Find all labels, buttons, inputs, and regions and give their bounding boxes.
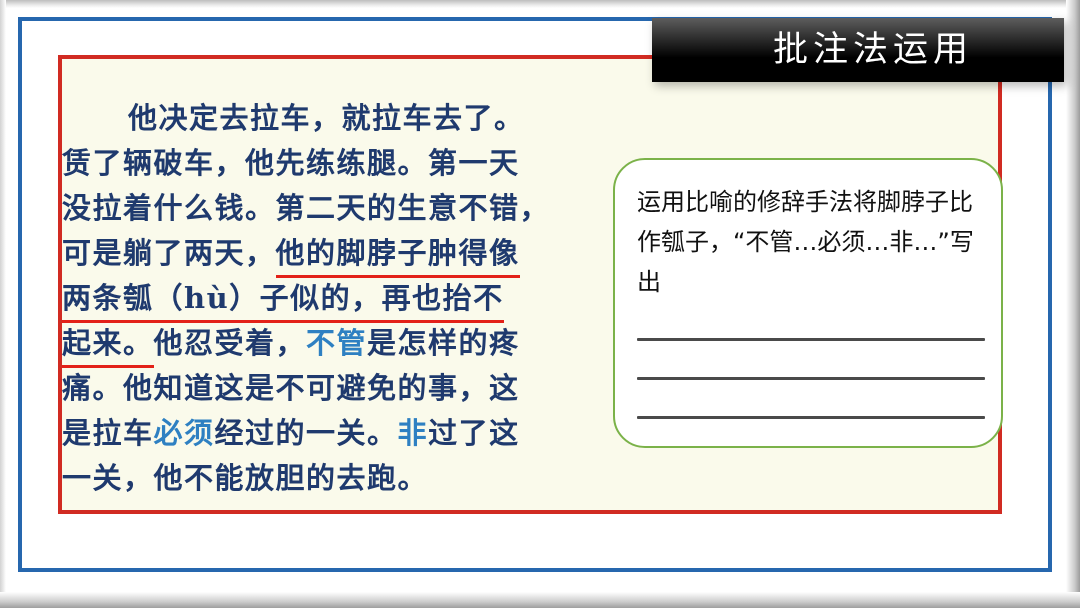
title-banner: 批注法运用 [652, 18, 1064, 82]
passage-segment: 经过的一关。 [215, 416, 398, 450]
passage-text-block: 他决定去拉车，就拉车去了。 赁了辆破车，他先练练腿。第一天 没拉着什么钱。第二天… [62, 96, 584, 501]
red-annotation-underline-segment: 他的脚脖子肿得像 [276, 231, 520, 276]
page-edge-bottom-shadow [0, 592, 1080, 608]
passage-line: 一关，他不能放胆的去跑。 [62, 456, 584, 501]
red-annotation-underline-segment: 两条瓠（hù）子似的，再也抬不 [62, 276, 504, 321]
passage-segment: 过了这 [428, 416, 520, 450]
passage-segment: 赁了辆破车，他先练练腿。第一天 [62, 146, 520, 180]
passage-segment: 是拉车 [62, 416, 154, 450]
passage-segment: 他决定去拉车，就拉车去了。 [128, 101, 525, 135]
page-edge-left-shadow [0, 0, 6, 608]
annotation-note-card: 运用比喻的修辞手法将脚脖子比作瓠子，“不管…必须…非…”写出 [613, 158, 1003, 448]
passage-line: 赁了辆破车，他先练练腿。第一天 [62, 141, 584, 186]
passage-segment: 他忍受着， [154, 326, 307, 360]
passage-line: 是拉车必须经过的一关。非过了这 [62, 411, 584, 456]
blank-write-line[interactable] [637, 377, 985, 380]
passage-line: 两条瓠（hù）子似的，再也抬不 [62, 276, 584, 321]
passage-segment: 痛。他知道这是不可避免的事，这 [62, 371, 520, 405]
keyword-highlight-bixu: 必须 [154, 416, 215, 450]
page-edge-right-shadow [1066, 0, 1080, 608]
keyword-highlight-fei: 非 [398, 416, 429, 450]
passage-line: 可是躺了两天，他的脚脖子肿得像 [62, 231, 584, 276]
passage-segment: 是怎样的疼 [367, 326, 520, 360]
passage-segment: 没拉着什么钱。第二天的生意不错， [62, 191, 550, 225]
slide-canvas: 他决定去拉车，就拉车去了。 赁了辆破车，他先练练腿。第一天 没拉着什么钱。第二天… [0, 0, 1080, 608]
passage-line: 他决定去拉车，就拉车去了。 [62, 96, 584, 141]
blank-write-line[interactable] [637, 338, 985, 341]
keyword-highlight-buguan: 不管 [306, 326, 367, 360]
passage-segment: 可是躺了两天， [62, 236, 276, 270]
passage-line: 起来。他忍受着，不管是怎样的疼 [62, 321, 584, 366]
passage-segment: 一关，他不能放胆的去跑。 [62, 461, 428, 495]
passage-line: 痛。他知道这是不可避免的事，这 [62, 366, 584, 411]
blank-write-line[interactable] [637, 416, 985, 419]
page-edge-top-shadow [0, 0, 1080, 8]
red-annotation-underline-segment: 起来。 [62, 321, 154, 366]
passage-line: 没拉着什么钱。第二天的生意不错， [62, 186, 584, 231]
annotation-blank-lines [637, 338, 985, 455]
annotation-note-text: 运用比喻的修辞手法将脚脖子比作瓠子，“不管…必须…非…”写出 [637, 182, 985, 302]
title-banner-label: 批注法运用 [743, 33, 973, 68]
